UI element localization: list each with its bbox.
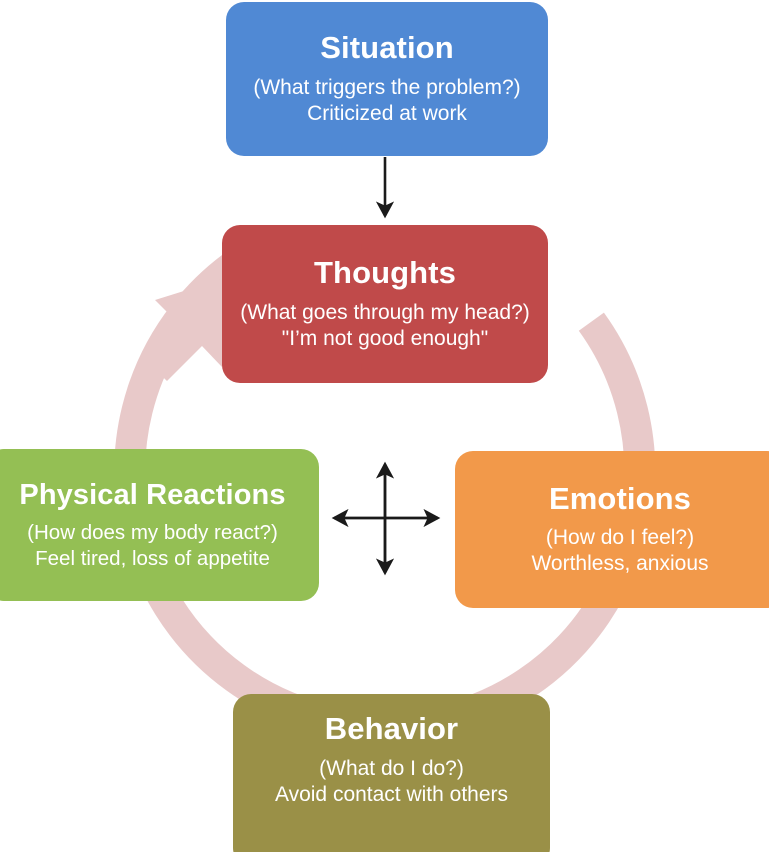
four-way-arrow xyxy=(334,464,438,573)
cbt-cycle-diagram: Situation (What triggers the problem?) C… xyxy=(0,0,769,852)
connector-layer xyxy=(0,0,769,852)
